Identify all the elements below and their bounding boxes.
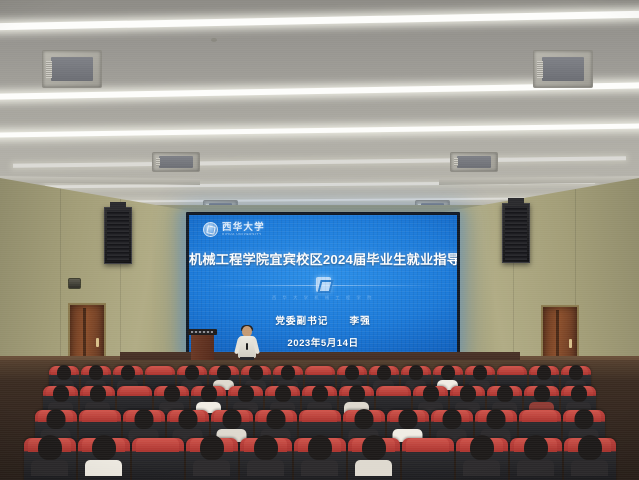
audience-member bbox=[53, 385, 69, 402]
auditorium-seat bbox=[564, 438, 616, 480]
led-presentation-screen: 西华大学 XIHUA UNIVERSITY 机械工程学院宜宾校区2024届毕业生… bbox=[186, 212, 460, 361]
audience-member bbox=[524, 435, 548, 460]
audience-member bbox=[266, 409, 285, 429]
audience-member bbox=[90, 385, 106, 402]
ceiling-ac-cassette bbox=[450, 152, 498, 172]
auditorium-seat bbox=[456, 438, 508, 480]
audience-member bbox=[89, 365, 103, 380]
audience-member bbox=[571, 385, 587, 402]
slide-date-line: 2023年5月14日 bbox=[189, 335, 457, 349]
ceiling-ac-cassette bbox=[152, 152, 200, 172]
audience-member bbox=[354, 409, 373, 429]
audience-member bbox=[349, 385, 365, 402]
audience-member bbox=[200, 435, 224, 460]
audience-member bbox=[185, 365, 199, 380]
audience-member bbox=[534, 385, 550, 402]
auditorium-seat bbox=[402, 438, 454, 480]
wall-camera-icon bbox=[68, 278, 81, 289]
smoke-detector-icon bbox=[211, 38, 217, 42]
auditorium-seat bbox=[24, 438, 76, 480]
audience-member bbox=[254, 435, 278, 460]
audience-member bbox=[281, 365, 295, 380]
audience-member bbox=[423, 385, 439, 402]
watermark-emblem-icon bbox=[316, 277, 331, 292]
auditorium-seat bbox=[78, 438, 130, 480]
audience-member bbox=[164, 385, 180, 402]
ceiling-ac-cassette bbox=[42, 50, 102, 88]
audience-member bbox=[46, 409, 65, 429]
slide-presenter-line: 党委副书记 李强 bbox=[189, 313, 457, 327]
auditorium-seat bbox=[186, 438, 238, 480]
audience-member bbox=[574, 409, 593, 429]
audience-member bbox=[409, 365, 423, 380]
line-array-speaker bbox=[104, 207, 132, 264]
audience-member bbox=[249, 365, 263, 380]
audience-member bbox=[222, 409, 241, 429]
audience-member bbox=[201, 385, 217, 402]
audience-member bbox=[442, 409, 461, 429]
audience-member bbox=[217, 365, 231, 380]
audience-member bbox=[57, 365, 71, 380]
audience-member bbox=[486, 409, 505, 429]
slide-title: 机械工程学院宜宾校区2024届毕业生就业指导座谈会 bbox=[189, 249, 457, 268]
audience-member bbox=[473, 365, 487, 380]
audience-member bbox=[121, 365, 135, 380]
auditorium-seat bbox=[240, 438, 292, 480]
audience-member bbox=[398, 409, 417, 429]
audience-member bbox=[178, 409, 197, 429]
auditorium-seat bbox=[348, 438, 400, 480]
audience-member bbox=[308, 435, 332, 460]
slide-surface: 西华大学 XIHUA UNIVERSITY 机械工程学院宜宾校区2024届毕业生… bbox=[189, 215, 457, 358]
slide-watermark: 西 华 大 学 机 械 工 程 学 院 bbox=[189, 277, 457, 302]
audience-member bbox=[569, 365, 583, 380]
university-name-cn: 西华大学 bbox=[222, 223, 265, 233]
line-array-speaker bbox=[502, 203, 530, 263]
audience-member bbox=[238, 385, 254, 402]
audience-member bbox=[275, 385, 291, 402]
audience-member bbox=[92, 435, 116, 460]
audience-member bbox=[497, 385, 513, 402]
auditorium-seat bbox=[510, 438, 562, 480]
university-emblem-icon bbox=[203, 222, 218, 237]
audience-member bbox=[377, 365, 391, 380]
audience-member bbox=[578, 435, 602, 460]
audience-member bbox=[134, 409, 153, 429]
auditorium-seat bbox=[294, 438, 346, 480]
university-name-en: XIHUA UNIVERSITY bbox=[222, 233, 265, 236]
audience-member bbox=[537, 365, 551, 380]
audience-member bbox=[460, 385, 476, 402]
ceiling-ac-cassette bbox=[533, 50, 593, 88]
seat-row bbox=[0, 438, 639, 480]
audience-member bbox=[441, 365, 455, 380]
audience-member bbox=[362, 435, 386, 460]
auditorium-photo: 西华大学 XIHUA UNIVERSITY 机械工程学院宜宾校区2024届毕业生… bbox=[0, 0, 639, 480]
audience-member bbox=[312, 385, 328, 402]
audience-member bbox=[345, 365, 359, 380]
microphone-icon bbox=[246, 343, 248, 350]
auditorium-seat bbox=[132, 438, 184, 480]
watermark-text: 西 华 大 学 机 械 工 程 学 院 bbox=[189, 295, 457, 302]
seated-audience bbox=[0, 360, 639, 480]
audience-member bbox=[470, 435, 494, 460]
university-logo: 西华大学 XIHUA UNIVERSITY bbox=[203, 222, 265, 237]
audience-member bbox=[38, 435, 62, 460]
